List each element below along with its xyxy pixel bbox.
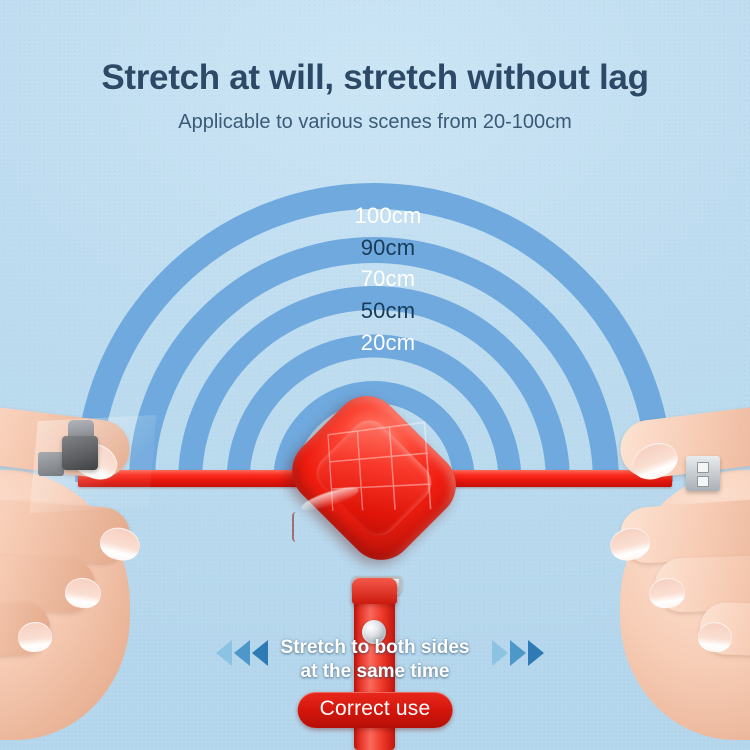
arc-label-100cm: 100cm	[328, 203, 448, 229]
arc-label-20cm: 20cm	[328, 330, 448, 356]
instruction-line-1: Stretch to both sides	[0, 636, 750, 660]
page-title: Stretch at will, stretch without lag	[0, 58, 750, 98]
instruction-text: Stretch to both sides at the same time	[0, 636, 750, 684]
cable-reel	[281, 398, 467, 558]
usb-a-connector	[686, 456, 720, 491]
instruction-line-2: at the same time	[0, 660, 750, 684]
usb-a-slot-top	[697, 462, 709, 473]
arc-label-70cm: 70cm	[328, 266, 448, 292]
arc-label-90cm: 90cm	[328, 235, 448, 261]
arc-label-50cm: 50cm	[328, 298, 448, 324]
usb-c-side-body	[38, 452, 64, 476]
correct-use-badge: Correct use	[298, 692, 453, 728]
page-subtitle: Applicable to various scenes from 20-100…	[0, 111, 750, 134]
usb-a-slot-bottom	[697, 476, 709, 487]
usb-c-connector	[62, 436, 98, 470]
lanyard-loop	[352, 578, 397, 604]
product-marketing-image: 100cm 90cm 70cm 50cm 20cm Stretch at wil…	[0, 0, 750, 750]
